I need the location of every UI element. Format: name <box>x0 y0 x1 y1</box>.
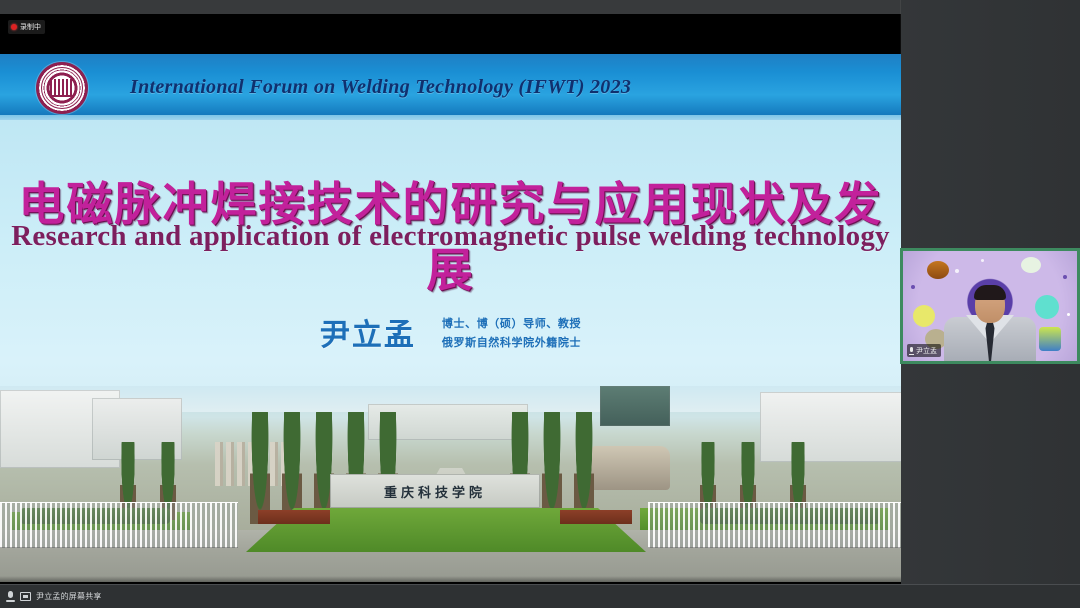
share-status-label: 尹立孟的屏幕共享 <box>36 591 102 602</box>
banner-title: International Forum on Welding Technolog… <box>130 54 631 120</box>
photo-tree <box>282 412 302 524</box>
photo-tree <box>250 412 270 524</box>
campus-gate-sign-text: 重庆科技学院 <box>384 482 486 501</box>
campus-photo: 重庆科技学院 <box>0 386 901 582</box>
photo-tree <box>574 412 594 524</box>
slide-title-english: Research and application of electromagne… <box>0 220 901 253</box>
decor-dot <box>1067 313 1070 316</box>
decor-dot <box>911 285 915 289</box>
share-letterbox-top <box>0 14 901 54</box>
slide-banner: International Forum on Welding Technolog… <box>0 54 901 120</box>
decor-circle <box>1035 295 1059 319</box>
photo-soil-bed <box>258 510 330 524</box>
recording-badge: 录制中 <box>8 20 45 34</box>
microphone-icon <box>909 347 914 355</box>
photo-fence <box>0 502 238 548</box>
decor-circle <box>913 305 935 327</box>
photo-tree <box>542 412 562 524</box>
presenter-block: 尹立孟 博士、博（硕）导师、教授 俄罗斯自然科学院外籍院士 <box>0 310 901 354</box>
decor-dot <box>955 269 959 273</box>
decor-circle <box>1039 327 1061 351</box>
decor-circle <box>1021 257 1041 273</box>
seal-emblem <box>50 79 74 97</box>
bottom-status-bar[interactable]: 尹立孟的屏幕共享 <box>0 584 1080 608</box>
meeting-window: 录制中 International Forum on Welding Techn… <box>0 0 1080 608</box>
decor-dot <box>981 259 984 262</box>
presenter-credentials: 博士、博（硕）导师、教授 俄罗斯自然科学院外籍院士 <box>442 315 581 350</box>
window-top-strip <box>0 0 901 14</box>
participant-name-badge: 尹立孟 <box>907 344 941 357</box>
recording-dot-icon <box>11 24 17 30</box>
photo-building <box>760 392 901 462</box>
participant-figure <box>944 287 1036 361</box>
presentation-slide: International Forum on Welding Technolog… <box>0 54 901 582</box>
shared-screen-region[interactable]: International Forum on Welding Technolog… <box>0 54 901 584</box>
slide-body: 电磁脉冲焊接技术的研究与应用现状及发展 Research and applica… <box>0 120 901 582</box>
decor-circle <box>927 261 949 279</box>
photo-rockery <box>590 446 670 490</box>
photo-building <box>600 386 670 426</box>
photo-fence <box>648 502 901 548</box>
screen-share-icon[interactable] <box>20 592 31 601</box>
participant-video-tile[interactable]: 尹立孟 <box>900 248 1080 364</box>
decor-dot <box>1063 275 1067 279</box>
participant-hair <box>974 285 1006 300</box>
participant-name-label: 尹立孟 <box>916 346 937 356</box>
university-seal-icon <box>36 62 88 114</box>
recording-label: 录制中 <box>20 22 41 32</box>
photo-soil-bed <box>560 510 632 524</box>
microphone-icon[interactable] <box>6 591 15 603</box>
presenter-credential-line-1: 博士、博（硕）导师、教授 <box>442 315 581 331</box>
campus-gate-sign: 重庆科技学院 <box>330 474 540 508</box>
presenter-name: 尹立孟 <box>320 310 416 354</box>
presenter-credential-line-2: 俄罗斯自然科学院外籍院士 <box>442 334 581 350</box>
